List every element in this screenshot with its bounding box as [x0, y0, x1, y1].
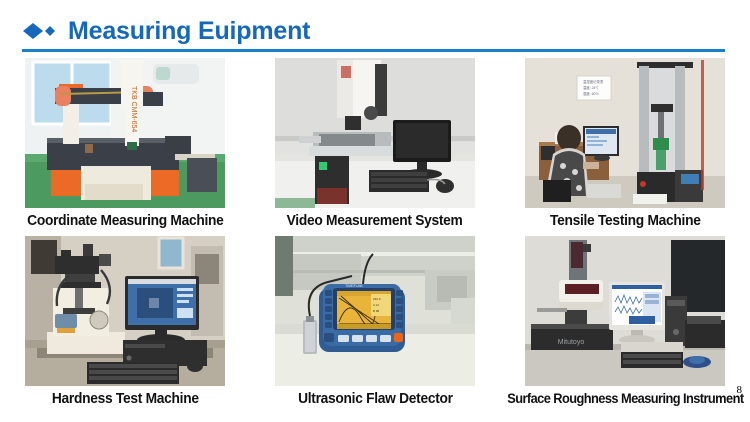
svg-text:TKB CMM-654: TKB CMM-654	[130, 86, 137, 132]
equipment-item: TKB CMM-654 Coordinate Measuring Machine	[0, 58, 250, 236]
svg-text:Mitutoyo: Mitutoyo	[558, 339, 585, 346]
slide-canvas: Measuring Euipment	[0, 0, 750, 422]
equipment-item: Mitutoyo	[500, 236, 750, 414]
equipment-grid: TKB CMM-654 Coordinate Measuring Machine	[0, 58, 750, 414]
page-title: Measuring Euipment	[68, 19, 310, 44]
svg-text:B 88: B 88	[373, 309, 380, 313]
page-number: 8	[737, 384, 743, 396]
double-diamond-bullet-icon	[22, 22, 56, 40]
svg-text:温度: 24℃: 温度: 24℃	[583, 85, 599, 90]
equipment-item: 240.9 A 12 B 88	[250, 236, 500, 414]
equipment-item: Hardness Test Machine	[0, 236, 250, 414]
equipment-row: TKB CMM-654 Coordinate Measuring Machine	[0, 58, 750, 236]
slide-header: Measuring Euipment	[22, 14, 310, 48]
svg-text:240.9: 240.9	[373, 297, 381, 301]
surface-roughness-measuring-instrument-photo: Mitutoyo	[525, 236, 725, 386]
tensile-testing-machine-photo: 温湿度记录表 温度: 24℃ 湿度: 60%	[525, 58, 725, 208]
svg-text:温湿度记录表: 温湿度记录表	[583, 79, 604, 84]
hardness-test-machine-photo	[25, 236, 225, 386]
video-measurement-system-photo	[275, 58, 475, 208]
ultrasonic-flaw-detector-photo: 240.9 A 12 B 88	[275, 236, 475, 386]
equipment-item: 温湿度记录表 温度: 24℃ 湿度: 60%	[500, 58, 750, 236]
equipment-caption: Video Measurement System	[287, 214, 463, 230]
equipment-caption: Tensile Testing Machine	[550, 214, 701, 230]
equipment-caption: Coordinate Measuring Machine	[27, 214, 223, 230]
equipment-caption: Surface Roughness Measuring Instrument	[507, 392, 743, 407]
title-divider	[22, 49, 725, 52]
equipment-row: Hardness Test Machine	[0, 236, 750, 414]
equipment-caption: Hardness Test Machine	[52, 392, 199, 408]
svg-text:TIME/FLAW: TIME/FLAW	[345, 284, 362, 288]
coordinate-measuring-machine-photo: TKB CMM-654	[25, 58, 225, 208]
svg-text:A 12: A 12	[373, 303, 379, 307]
svg-text:湿度: 60%: 湿度: 60%	[583, 91, 598, 96]
equipment-caption: Ultrasonic Flaw Detector	[298, 392, 453, 408]
equipment-item: Video Measurement System	[250, 58, 500, 236]
